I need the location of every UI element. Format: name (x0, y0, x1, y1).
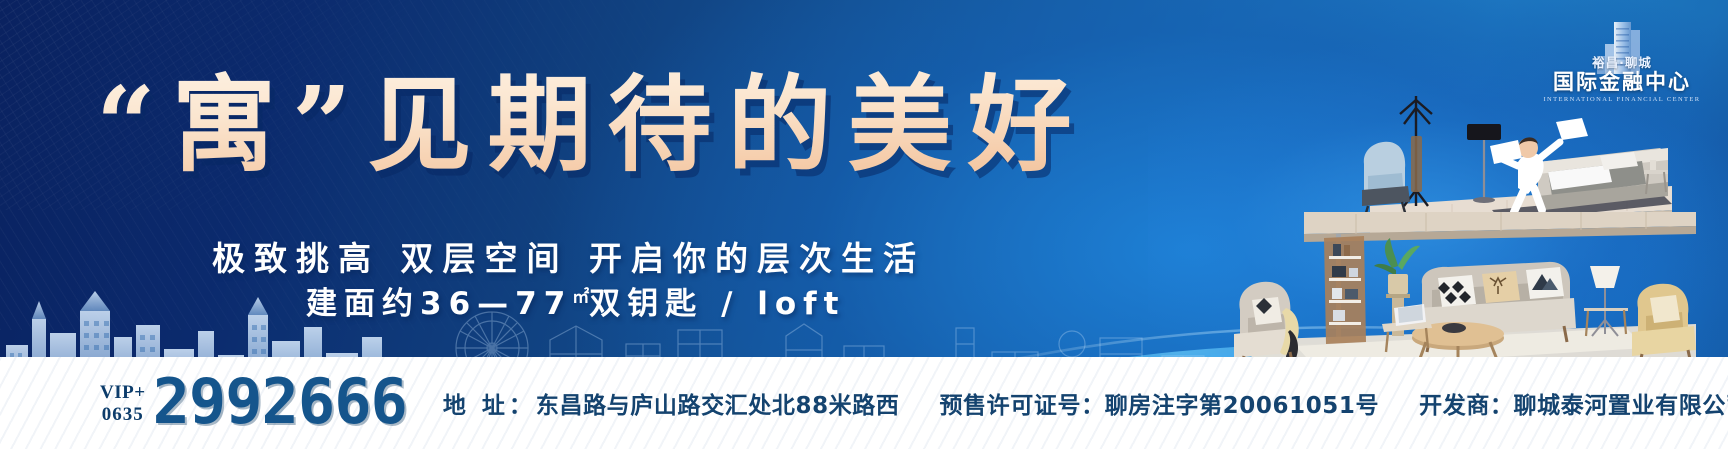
brand-logo: 裕昌·聊城 国际金融中心 INTERNATIONAL FINANCIAL CEN… (1534, 22, 1710, 106)
developer-label: 开发商： (1419, 393, 1513, 419)
logo-chinese-large: 国际金融中心 (1534, 71, 1710, 95)
license-label: 预售许可证号： (939, 393, 1104, 419)
footer-info-bar: VIP+ 0635 2992666 地 址：东昌路与庐山路交汇处北88米路西 预… (0, 357, 1728, 449)
subtitle-line-1: 极致挑高 双层空间 开启你的层次生活 (212, 232, 925, 280)
address-info: 地 址：东昌路与庐山路交汇处北88米路西 (443, 386, 900, 420)
living-room-furniture-scene (1186, 212, 1696, 372)
vip-label: VIP+ (100, 382, 146, 404)
area-code: 0635 (102, 404, 144, 426)
license-value: 聊房注字第20061051号 (1105, 393, 1379, 419)
logo-chinese-small: 裕昌·聊城 (1534, 52, 1710, 71)
developer-info: 开发商：聊城泰河置业有限公司 (1419, 386, 1728, 420)
logo-english-subtitle: INTERNATIONAL FINANCIAL CENTER (1534, 96, 1710, 103)
license-info: 预售许可证号：聊房注字第20061051号 (939, 386, 1379, 420)
address-label: 地 址： (443, 393, 536, 419)
address-value: 东昌路与庐山路交汇处北88米路西 (536, 393, 900, 419)
advertisement-banner: 裕昌·聊城 国际金融中心 INTERNATIONAL FINANCIAL CEN… (0, 0, 1728, 449)
phone-number[interactable]: 2992666 (153, 371, 407, 433)
phone-block: VIP+ 0635 2992666 (100, 373, 407, 433)
developer-value: 聊城泰河置业有限公司 (1514, 393, 1728, 419)
vip-prefix: VIP+ 0635 (100, 382, 146, 427)
page-title: “寓”见期待的美好 (96, 66, 1176, 186)
